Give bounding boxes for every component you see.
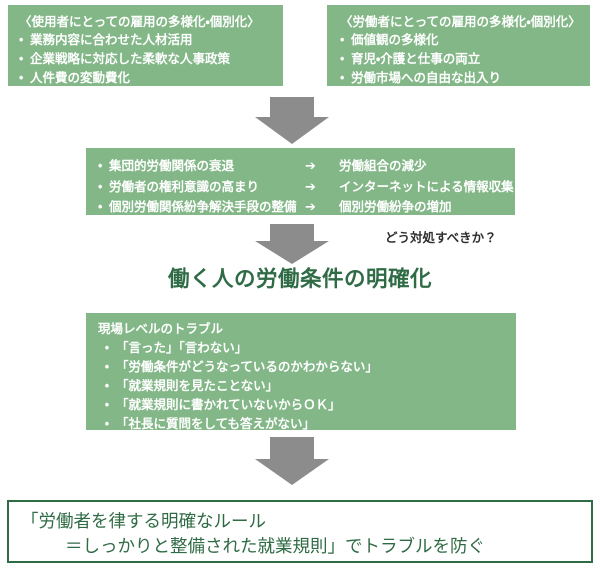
consequence-effect: 労働組合の減少 [339, 157, 427, 177]
down-arrow-2-icon [255, 241, 329, 264]
bullet-icon: • [98, 339, 116, 358]
employer-bullet-list: •業務内容に合わせた人材活用 •企業戦略に対応した柔軟な人事政策 •人件費の変動… [19, 31, 283, 88]
list-item-label: 育児・介護と仕事の両立 [351, 50, 480, 69]
bullet-icon: • [98, 396, 116, 415]
worker-bullet-list: •価値観の多様化 •育児・介護と仕事の両立 •労働市場への自由な出入り [340, 31, 590, 88]
trouble-box-title: 現場レベルのトラブル [98, 321, 516, 338]
bullet-icon: • [340, 69, 351, 88]
consequence-cause: 集団的労働関係の衰退 [109, 157, 305, 177]
consequence-row: • 集団的労働関係の衰退 ➔ 労働組合の減少 [98, 156, 515, 177]
down-arrow-3-icon [255, 459, 329, 485]
consequence-row: • 労働者の権利意識の高まり ➔ インターネットによる情報収集 [98, 177, 515, 198]
conclusion-line-2: ＝しっかりと整備された就業規則」でトラブルを防ぐ [21, 534, 591, 559]
list-item-label: 労働市場への自由な出入り [351, 69, 501, 88]
right-arrow-icon: ➔ [305, 177, 339, 197]
list-item-label: 「就業規則を見たことない」 [116, 377, 278, 396]
list-item: •「就業規則を見たことない」 [98, 377, 516, 396]
bullet-icon: • [340, 31, 351, 50]
bullet-icon: • [98, 178, 109, 198]
down-arrow-1-shaft [270, 97, 314, 117]
bullet-icon: • [340, 50, 351, 69]
bullet-icon: • [98, 198, 109, 218]
list-item-label: 人件費の変動費化 [30, 69, 130, 88]
consequence-cause: 個別労働関係紛争解決手段の整備 [109, 198, 305, 218]
bullet-icon: • [98, 415, 116, 434]
list-item: •育児・介護と仕事の両立 [340, 50, 590, 69]
right-arrow-icon: ➔ [305, 156, 339, 176]
list-item: •労働市場への自由な出入り [340, 69, 590, 88]
consequence-effect: 個別労働紛争の増加 [339, 198, 452, 218]
list-item: •「就業規則に書かれていないからＯＫ」 [98, 396, 516, 415]
list-item: •企業戦略に対応した柔軟な人事政策 [19, 50, 283, 69]
list-item: •業務内容に合わせた人材活用 [19, 31, 283, 50]
question-note: どう対処すべきか？ [385, 227, 497, 246]
list-item-label: 「就業規則に書かれていないからＯＫ」 [116, 396, 341, 415]
list-item-label: 「言った」「言わない」 [116, 339, 247, 358]
worker-diversification-box: 〈労働者にとっての雇用の多様化・個別化〉 •価値観の多様化 •育児・介護と仕事の… [327, 5, 590, 86]
list-item-label: 企業戦略に対応した柔軟な人事政策 [30, 50, 230, 69]
employer-diversification-box: 〈使用者にとっての雇用の多様化・個別化〉 •業務内容に合わせた人材活用 •企業戦… [8, 5, 283, 86]
trouble-bullet-list: •「言った」「言わない」 •「労働条件がどうなっているのかわからない」 •「就業… [98, 339, 516, 434]
bullet-icon: • [19, 69, 30, 88]
page-title: 働く人の労働条件の明確化 [0, 262, 600, 293]
workplace-trouble-box: 現場レベルのトラブル •「言った」「言わない」 •「労働条件がどうなっているのか… [86, 313, 516, 430]
list-item: •「社長に質問をしても答えがない」 [98, 415, 516, 434]
bullet-icon: • [98, 358, 116, 377]
bullet-icon: • [19, 50, 30, 69]
consequence-cause: 労働者の権利意識の高まり [109, 178, 305, 198]
list-item-label: 「社長に質問をしても答えがない」 [116, 415, 315, 434]
conclusion-line-1: 「労働者を律する明確なルール [21, 509, 591, 534]
consequence-effect: インターネットによる情報収集 [339, 178, 514, 198]
list-item: •価値観の多様化 [340, 31, 590, 50]
down-arrow-2-shaft [270, 224, 314, 241]
conclusion-box: 「労働者を律する明確なルール ＝しっかりと整備された就業規則」でトラブルを防ぐ [7, 500, 593, 563]
list-item-label: 「労働条件がどうなっているのかわからない」 [116, 358, 378, 377]
bullet-icon: • [19, 31, 30, 50]
consequences-box: • 集団的労働関係の衰退 ➔ 労働組合の減少 • 労働者の権利意識の高まり ➔ … [86, 148, 515, 215]
down-arrow-3-shaft [270, 437, 314, 459]
worker-box-title: 〈労働者にとっての雇用の多様化・個別化〉 [340, 14, 590, 31]
consequence-row: • 個別労働関係紛争解決手段の整備 ➔ 個別労働紛争の増加 [98, 197, 515, 218]
employer-box-title: 〈使用者にとっての雇用の多様化・個別化〉 [19, 14, 283, 31]
list-item: •「労働条件がどうなっているのかわからない」 [98, 358, 516, 377]
bullet-icon: • [98, 377, 116, 396]
list-item: •人件費の変動費化 [19, 69, 283, 88]
bullet-icon: • [98, 157, 109, 177]
down-arrow-1-icon [255, 117, 329, 144]
list-item-label: 価値観の多様化 [351, 31, 439, 50]
right-arrow-icon: ➔ [305, 197, 339, 217]
list-item: •「言った」「言わない」 [98, 339, 516, 358]
list-item-label: 業務内容に合わせた人材活用 [30, 31, 193, 50]
